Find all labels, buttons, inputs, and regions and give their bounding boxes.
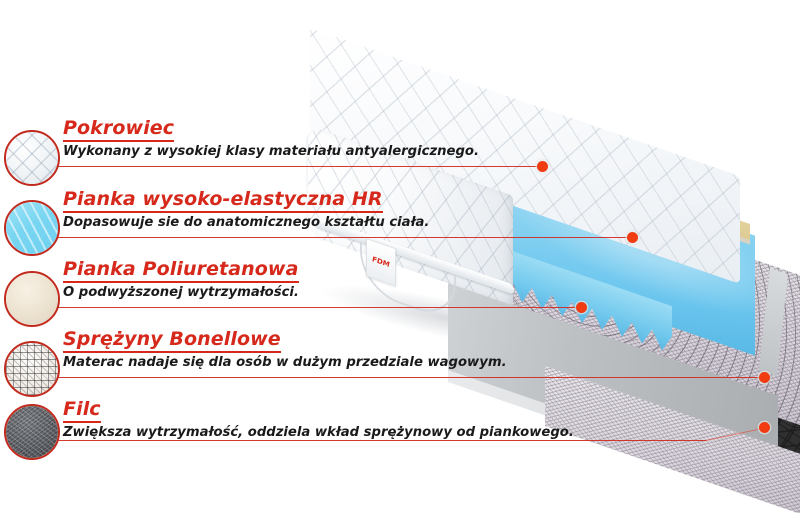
quilted-fabric-swatch: [4, 130, 60, 186]
feature-title-sprezyny: Sprężyny Bonellowe: [63, 329, 281, 353]
feature-desc-sprezyny: Materac nadaje się dla osób w dużym prze…: [63, 355, 507, 370]
feature-title-pianka-poliuretanowa: Pianka Poliuretanowa: [63, 259, 299, 283]
mattress-cutaway-illustration: FDM: [330, 70, 800, 470]
feature-desc-pianka-hr: Dopasowuje sie do anatomicznego kształtu…: [63, 215, 429, 230]
felt-swatch: [4, 404, 60, 460]
blue-foam-swatch: [4, 200, 60, 256]
leader-line-sprezyny: [46, 377, 764, 378]
callout-dot-pianka-poliuretanowa: [576, 302, 587, 313]
callout-dot-filc: [759, 422, 770, 433]
feature-desc-pokrowiec: Wykonany z wysokiej klasy materiału anty…: [63, 144, 479, 159]
callout-dot-pokrowiec: [537, 161, 548, 172]
feature-desc-filc: Zwiększa wytrzymałość, oddziela wkład sp…: [63, 425, 574, 440]
feature-title-filc: Filc: [63, 399, 101, 423]
feature-desc-pianka-poliuretanowa: O podwyższonej wytrzymałości.: [63, 285, 299, 300]
callout-dot-pianka-hr: [627, 232, 638, 243]
leader-line-pokrowiec: [46, 166, 542, 167]
feature-title-pianka-hr: Pianka wysoko-elastyczna HR: [63, 189, 383, 213]
feature-title-pokrowiec: Pokrowiec: [63, 118, 174, 142]
callout-dot-sprezyny: [759, 372, 770, 383]
infographic-root: FDM Pokrowiec Wykonany z wysokiej klasy …: [0, 0, 800, 513]
leader-line-pianka-hr: [46, 237, 632, 238]
beige-foam-swatch: [4, 271, 60, 327]
spring-mesh-swatch: [4, 341, 60, 397]
leader-line-pianka-poliuretanowa: [46, 307, 581, 308]
